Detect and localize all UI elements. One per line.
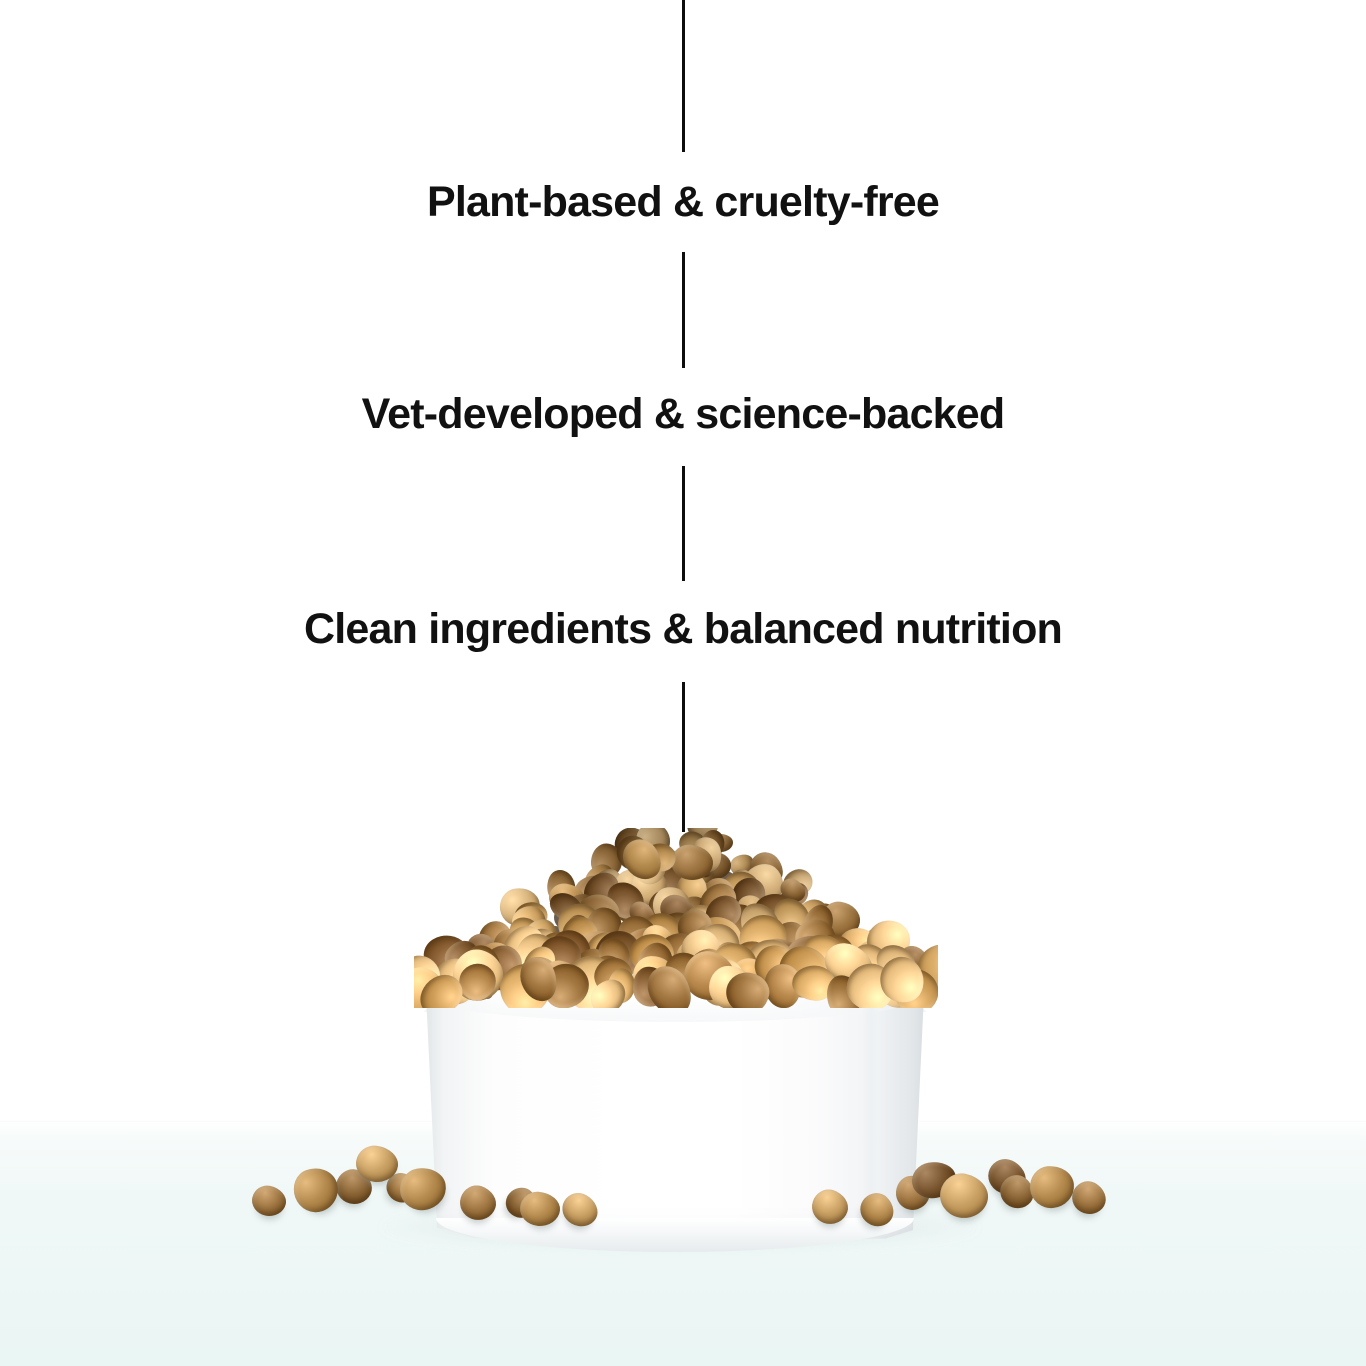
benefit-label-vet-developed: Vet-developed & science-backed [0,390,1366,439]
connector-line-third [682,466,685,581]
benefit-label-clean-ingredients: Clean ingredients & balanced nutrition [0,605,1366,654]
product-benefits-graphic: Plant-based & cruelty-free Vet-developed… [0,0,1366,1366]
connector-line-second [682,252,685,368]
benefit-label-plant-based: Plant-based & cruelty-free [0,178,1366,227]
kibble-pile [414,828,938,1008]
bowl-body [424,992,926,1240]
connector-line-top [682,0,685,152]
bowl-highlight [862,1000,880,1216]
connector-line-bottom [682,682,685,832]
